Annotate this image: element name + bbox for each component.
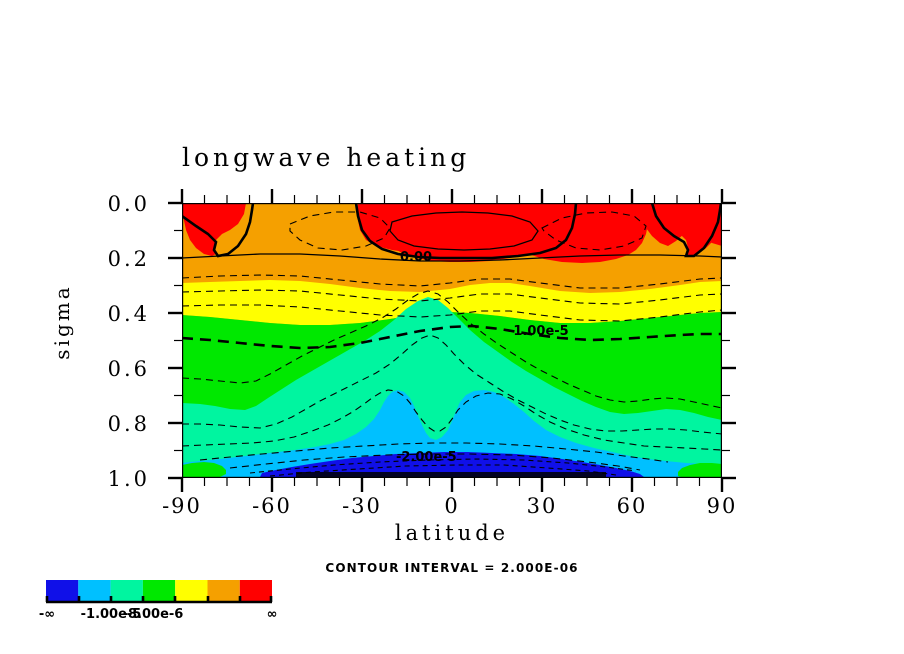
x-tick-label-6: 90 — [677, 494, 767, 518]
figure-canvas: longwave heating sigma latitude 0.0 0.2 … — [0, 0, 904, 654]
y-tick-label-4: 0.8 — [60, 412, 150, 436]
x-tick-label-3: 0 — [407, 494, 497, 518]
y-tick-label-2: 0.4 — [60, 302, 150, 326]
x-axis-title: latitude — [182, 521, 722, 545]
x-tick-label-5: 60 — [587, 494, 677, 518]
x-tick-label-2: -30 — [317, 494, 407, 518]
x-tick-label-4: 30 — [497, 494, 587, 518]
contour-label-minus-1e5: -1.00e-5 — [508, 324, 569, 339]
y-tick-label-0: 0.0 — [60, 192, 150, 216]
colorbar-swatch-6 — [240, 580, 272, 602]
colorbar-swatch-0 — [46, 580, 78, 602]
contour-label-zero: 0.00 — [400, 250, 432, 265]
colorbar[interactable] — [46, 580, 272, 602]
colorbar-swatch-1 — [78, 580, 110, 602]
colorbar-swatch-2 — [111, 580, 143, 602]
contour-label-minus-2e5: -2.00e-5 — [396, 450, 457, 465]
x-tick-label-0: -90 — [137, 494, 227, 518]
y-tick-label-3: 0.6 — [60, 357, 150, 381]
y-tick-label-5: 1.0 — [60, 467, 150, 491]
colorbar-swatch-3 — [143, 580, 175, 602]
colorbar-label-min: -∞ — [27, 607, 67, 622]
colorbar-swatch-4 — [175, 580, 207, 602]
page-title: longwave heating — [182, 143, 722, 172]
colorbar-label-max: ∞ — [252, 607, 292, 622]
contour-interval-note: CONTOUR INTERVAL = 2.000E-06 — [182, 561, 722, 575]
filled-contour-bands — [178, 203, 722, 478]
colorbar-swatch-5 — [208, 580, 240, 602]
band-red-tropics — [357, 203, 562, 256]
colorbar-label-upper: -8.00e-6 — [113, 607, 193, 622]
plot-svg — [0, 0, 904, 654]
y-tick-label-1: 0.2 — [60, 247, 150, 271]
x-tick-label-1: -60 — [227, 494, 317, 518]
